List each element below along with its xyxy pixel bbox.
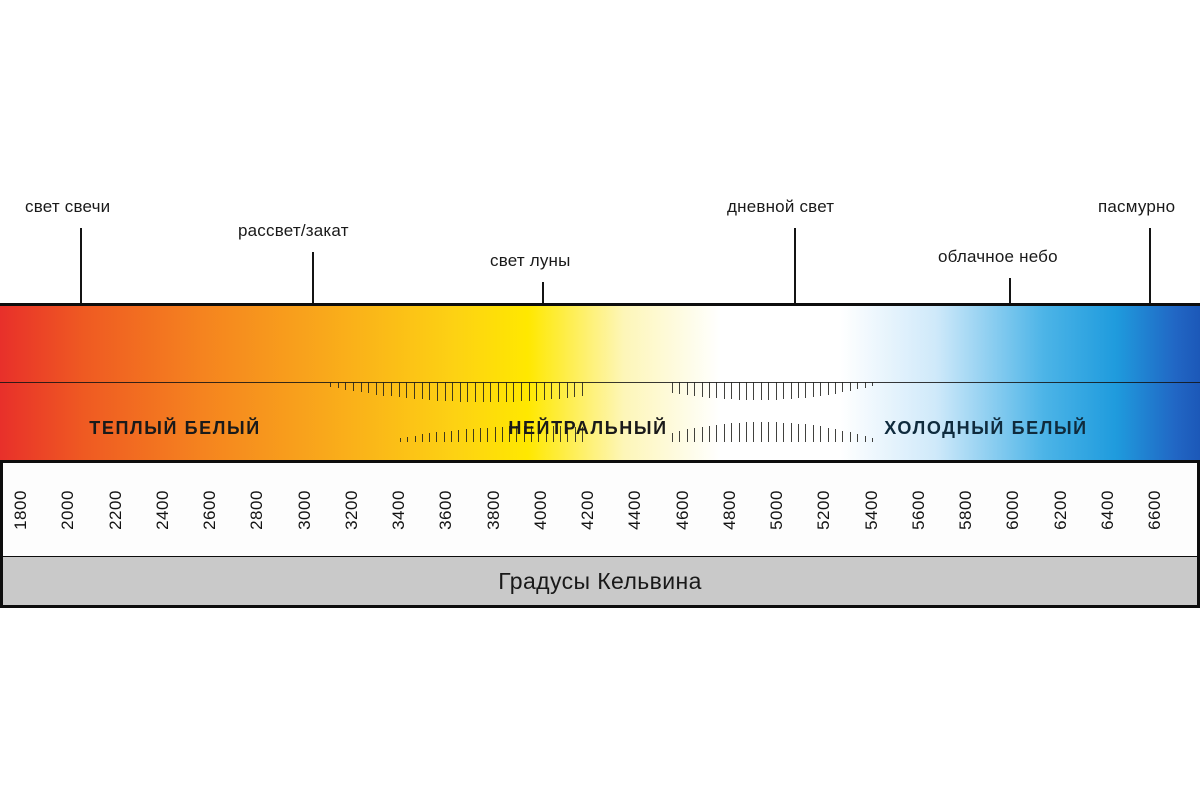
ruler-tick (687, 382, 688, 395)
ruler-tick (753, 422, 754, 442)
ruler-tick (768, 382, 769, 400)
kelvin-tick-label: 3200 (342, 490, 362, 530)
ruler-tick (702, 427, 703, 442)
ruler-tick (731, 423, 732, 442)
ruler-tick (444, 432, 445, 443)
ruler-tick (451, 431, 452, 442)
ruler-tick (495, 427, 496, 442)
kelvin-tick-label: 2800 (247, 490, 267, 530)
ruler-tick (805, 424, 806, 442)
ruler-tick (739, 382, 740, 400)
callout-label-2: рассвет/закат (238, 222, 349, 239)
ruler-tick (798, 424, 799, 442)
ruler-tick (521, 382, 522, 401)
ruler-tick (813, 382, 814, 397)
kelvin-tick-label: 6000 (1003, 490, 1023, 530)
ruler-tick (480, 428, 481, 442)
kelvin-tick-label: 5200 (814, 490, 834, 530)
band-label-2: НЕЙТРАЛЬНЫЙ (508, 418, 667, 439)
ruler-tick (768, 422, 769, 442)
ruler-tick (436, 432, 437, 442)
ruler-tick (458, 430, 459, 442)
ruler-tick (506, 382, 507, 402)
ruler-tick (835, 429, 836, 442)
ruler-tick (399, 382, 400, 397)
callout-label-3: свет луны (490, 252, 571, 269)
ruler-tick (805, 382, 806, 398)
ruler-tick (857, 382, 858, 389)
ruler-tick (813, 425, 814, 442)
ruler-tick (672, 433, 673, 442)
ruler-tick (498, 382, 499, 402)
ruler-tick (672, 382, 673, 393)
ruler-tick (422, 382, 423, 399)
kelvin-tick-label: 6400 (1098, 490, 1118, 530)
ruler-tick (361, 382, 362, 392)
ruler-tick (776, 422, 777, 442)
ruler-tick (687, 429, 688, 442)
ruler-tick (746, 422, 747, 442)
ruler-tick (865, 382, 866, 388)
ruler-tick (783, 382, 784, 399)
ruler-tick (842, 431, 843, 443)
ruler-tick (544, 382, 545, 400)
kelvin-tick-label: 5800 (956, 490, 976, 530)
ruler-tick (551, 382, 552, 399)
ruler-tick (345, 382, 346, 390)
ruler-tick (835, 382, 836, 394)
kelvin-tick-label: 3600 (436, 490, 456, 530)
ruler-tick (502, 427, 503, 442)
kelvin-tick-label: 2400 (153, 490, 173, 530)
ruler-tick (872, 382, 873, 386)
kelvin-tick-label: 6200 (1051, 490, 1071, 530)
ruler-tick (529, 382, 530, 401)
ruler-tick (709, 382, 710, 398)
ruler-tick (483, 382, 484, 402)
ruler-tick (445, 382, 446, 401)
ruler-tick (716, 425, 717, 442)
ruler-tick (460, 382, 461, 402)
ruler-tick (567, 382, 568, 398)
kelvin-tick-label: 3800 (484, 490, 504, 530)
band-label-1: ТЕПЛЫЙ БЕЛЫЙ (89, 418, 260, 439)
kelvin-tick-label: 3400 (389, 490, 409, 530)
ruler-tick (865, 436, 866, 442)
ruler-tick (694, 428, 695, 442)
kelvin-tick-label: 4400 (625, 490, 645, 530)
ruler-tick (415, 436, 416, 442)
kelvin-tick-label: 6600 (1145, 490, 1165, 530)
ruler-tick (437, 382, 438, 401)
ruler-tick (407, 437, 408, 442)
ruler-tick (850, 382, 851, 391)
ruler-tick (582, 382, 583, 396)
ruler-tick (828, 382, 829, 395)
callout-label-6: пасмурно (1098, 198, 1175, 215)
ruler-tick (820, 426, 821, 442)
ruler-tick (406, 382, 407, 398)
ruler-tick (574, 382, 575, 397)
band-label-3: ХОЛОДНЫЙ БЕЛЫЙ (884, 418, 1087, 439)
ruler-tick (753, 382, 754, 400)
ruler-tick (368, 382, 369, 393)
ruler-tick (709, 426, 710, 442)
ruler-tick (828, 428, 829, 442)
ruler-tick (739, 423, 740, 442)
color-gradient-bar: ТЕПЛЫЙ БЕЛЫЙНЕЙТРАЛЬНЫЙХОЛОДНЫЙ БЕЛЫЙ (0, 303, 1200, 463)
kelvin-tick-label: 5600 (909, 490, 929, 530)
callout-label-5: облачное небо (938, 248, 1058, 265)
ruler-tick (679, 382, 680, 394)
ruler-tick (536, 382, 537, 401)
kelvin-tick-label: 4600 (673, 490, 693, 530)
ruler-tick (383, 382, 384, 396)
ruler-tick (798, 382, 799, 398)
ruler-tick (429, 382, 430, 400)
kelvin-tick-label: 5000 (767, 490, 787, 530)
footer-label: Градусы Кельвина (498, 568, 702, 595)
ruler-tick (338, 382, 339, 388)
ruler-tick (761, 382, 762, 400)
ruler-tick (761, 422, 762, 442)
kelvin-tick-label: 2200 (106, 490, 126, 530)
ruler-tick (731, 382, 732, 399)
ruler-tick (872, 438, 873, 442)
ruler-tick (724, 382, 725, 399)
ruler-tick (487, 428, 488, 442)
ruler-tick (679, 431, 680, 442)
ruler-tick (422, 434, 423, 442)
ruler-tick (414, 382, 415, 399)
ruler-tick (702, 382, 703, 397)
ruler-tick (842, 382, 843, 392)
ruler-tick (429, 433, 430, 442)
kelvin-scale: 1800200022002400260028003000320034003600… (0, 463, 1200, 556)
callout-label-4: дневной свет (727, 198, 834, 215)
ruler-tick (559, 382, 560, 399)
ruler-tick (353, 382, 354, 391)
ruler-tick (475, 382, 476, 402)
kelvin-tick-label: 2000 (58, 490, 78, 530)
color-temperature-chart: свет свечирассвет/закатсвет луныдневной … (0, 0, 1200, 800)
ruler-tick (466, 429, 467, 442)
ruler-tick (473, 429, 474, 442)
ruler-tick (791, 423, 792, 442)
ruler-tick (490, 382, 491, 402)
ruler-tick (783, 423, 784, 442)
ruler-tick (513, 382, 514, 402)
kelvin-tick-label: 4800 (720, 490, 740, 530)
kelvin-tick-label: 3000 (295, 490, 315, 530)
ruler-tick (791, 382, 792, 399)
callout-label-1: свет свечи (25, 198, 110, 215)
ruler-tick (820, 382, 821, 396)
ruler-tick (716, 382, 717, 398)
ruler-tick (694, 382, 695, 396)
ruler-tick (857, 434, 858, 442)
kelvin-tick-label: 4000 (531, 490, 551, 530)
ruler-tick (467, 382, 468, 402)
ruler-tick (724, 424, 725, 442)
kelvin-tick-label: 1800 (11, 490, 31, 530)
ruler-tick (746, 382, 747, 400)
ruler-tick (376, 382, 377, 395)
ruler-tick (330, 382, 331, 387)
kelvin-tick-label: 2600 (200, 490, 220, 530)
ruler-tick (850, 432, 851, 442)
kelvin-tick-label: 4200 (578, 490, 598, 530)
ruler-tick (391, 382, 392, 396)
ruler-tick (776, 382, 777, 400)
footer-bar: Градусы Кельвина (0, 556, 1200, 608)
band-divider-line (0, 382, 1200, 383)
ruler-tick (400, 438, 401, 442)
ruler-tick (452, 382, 453, 401)
kelvin-tick-label: 5400 (862, 490, 882, 530)
